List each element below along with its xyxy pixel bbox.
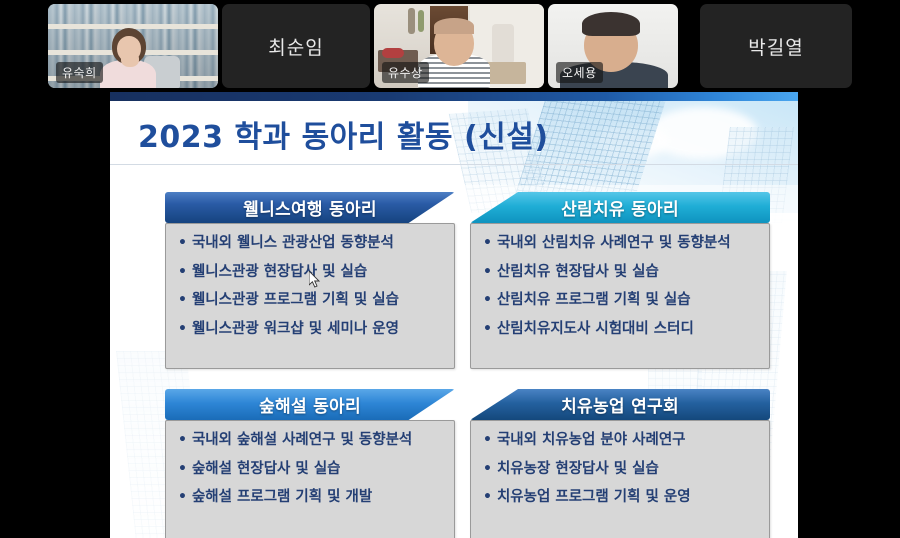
participant-name-label: 오세용	[556, 62, 603, 83]
bullet-text: 국내외 산림치유 사례연구 및 동향분석	[497, 236, 731, 251]
bullet-item: • 치유농업 프로그램 기획 및 운영	[483, 490, 761, 505]
bullet-dot: •	[483, 433, 492, 447]
club-card-header: 산림치유 동아리	[470, 192, 770, 223]
bullet-item: • 숲해설 프로그램 기획 및 개발	[178, 490, 446, 505]
bullet-dot: •	[483, 236, 492, 250]
club-card-care-farming[interactable]: 치유농업 연구회 • 국내외 치유농업 분야 사례연구 • 치유농장 현장답사 …	[470, 389, 770, 538]
club-card-header: 웰니스여행 동아리	[165, 192, 455, 223]
club-card-body: • 국내외 웰니스 관광산업 동향분석 • 웰니스관광 현장답사 및 실습 • …	[165, 223, 455, 369]
bullet-item: • 산림치유 프로그램 기획 및 실습	[483, 293, 761, 308]
participant-name-label: 박길열	[700, 4, 852, 88]
screen-share-area: 2023 학과 동아리 활동 (신설) 웰니스여행 동아리 • 국내외 웰니스 …	[0, 92, 900, 538]
participant-tile-5[interactable]: 박길열	[700, 4, 852, 88]
club-card-header: 치유농업 연구회	[470, 389, 770, 420]
zoom-meeting-window: 유숙희 최순임 유수상	[0, 0, 900, 538]
slide-title: 2023 학과 동아리 활동 (신설)	[138, 112, 549, 156]
bullet-dot: •	[178, 265, 187, 279]
participant-tile-1[interactable]: 유숙희	[48, 4, 218, 88]
bullet-text: 국내외 치유농업 분야 사례연구	[497, 433, 686, 448]
club-card-title: 웰니스여행 동아리	[243, 195, 377, 220]
bullet-text: 웰니스관광 현장답사 및 실습	[192, 265, 367, 280]
bullet-text: 국내외 숲해설 사례연구 및 동향분석	[192, 433, 412, 448]
bullet-dot: •	[178, 236, 187, 250]
bullet-text: 산림치유 현장답사 및 실습	[497, 265, 659, 280]
bullet-text: 국내외 웰니스 관광산업 동향분석	[192, 236, 394, 251]
bullet-text: 숲해설 프로그램 기획 및 개발	[192, 490, 372, 505]
club-card-title: 치유농업 연구회	[561, 392, 679, 417]
club-card-title: 산림치유 동아리	[561, 195, 679, 220]
bullet-item: • 산림치유 현장답사 및 실습	[483, 265, 761, 280]
participant-filmstrip: 유숙희 최순임 유수상	[0, 0, 900, 92]
bullet-item: • 웰니스관광 현장답사 및 실습	[178, 265, 446, 280]
club-card-wellness-travel[interactable]: 웰니스여행 동아리 • 국내외 웰니스 관광산업 동향분석 • 웰니스관광 현장…	[165, 192, 455, 369]
bullet-dot: •	[483, 462, 492, 476]
participant-tile-3[interactable]: 유수상	[374, 4, 544, 88]
bullet-text: 치유농장 현장답사 및 실습	[497, 462, 659, 477]
bullet-item: • 숲해설 현장답사 및 실습	[178, 462, 446, 477]
participant-name-label: 유수상	[382, 62, 429, 83]
presentation-slide[interactable]: 2023 학과 동아리 활동 (신설) 웰니스여행 동아리 • 국내외 웰니스 …	[110, 92, 798, 538]
participant-name-label: 최순임	[222, 4, 370, 88]
bullet-item: • 국내외 숲해설 사례연구 및 동향분석	[178, 433, 446, 448]
club-card-forest-interpretation[interactable]: 숲해설 동아리 • 국내외 숲해설 사례연구 및 동향분석 • 숲해설 현장답사…	[165, 389, 455, 538]
bullet-dot: •	[178, 293, 187, 307]
slide-top-bar	[110, 92, 798, 101]
title-divider	[110, 164, 798, 165]
club-card-body: • 국내외 치유농업 분야 사례연구 • 치유농장 현장답사 및 실습 • 치유…	[470, 420, 770, 538]
participant-name-label: 유숙희	[56, 62, 103, 83]
bullet-text: 숲해설 현장답사 및 실습	[192, 462, 341, 477]
bullet-dot: •	[178, 322, 187, 336]
bullet-dot: •	[483, 293, 492, 307]
bullet-item: • 치유농장 현장답사 및 실습	[483, 462, 761, 477]
bullet-item: • 웰니스관광 워크샵 및 세미나 운영	[178, 322, 446, 337]
bullet-item: • 웰니스관광 프로그램 기획 및 실습	[178, 293, 446, 308]
club-card-body: • 국내외 산림치유 사례연구 및 동향분석 • 산림치유 현장답사 및 실습 …	[470, 223, 770, 369]
bullet-text: 산림치유지도사 시험대비 스터디	[497, 322, 694, 337]
club-card-body: • 국내외 숲해설 사례연구 및 동향분석 • 숲해설 현장답사 및 실습 • …	[165, 420, 455, 538]
bullet-dot: •	[178, 462, 187, 476]
bullet-dot: •	[483, 265, 492, 279]
bullet-text: 웰니스관광 프로그램 기획 및 실습	[192, 293, 399, 308]
bullet-dot: •	[178, 490, 187, 504]
bullet-dot: •	[483, 490, 492, 504]
club-card-title: 숲해설 동아리	[259, 392, 361, 417]
bullet-dot: •	[178, 433, 187, 447]
bullet-item: • 국내외 산림치유 사례연구 및 동향분석	[483, 236, 761, 251]
club-card-header: 숲해설 동아리	[165, 389, 455, 420]
participant-tile-4[interactable]: 오세용	[548, 4, 678, 88]
bullet-text: 산림치유 프로그램 기획 및 실습	[497, 293, 691, 308]
bullet-item: • 국내외 웰니스 관광산업 동향분석	[178, 236, 446, 251]
participant-tile-2[interactable]: 최순임	[222, 4, 370, 88]
bullet-text: 치유농업 프로그램 기획 및 운영	[497, 490, 691, 505]
club-card-forest-healing[interactable]: 산림치유 동아리 • 국내외 산림치유 사례연구 및 동향분석 • 산림치유 현…	[470, 192, 770, 369]
bullet-item: • 산림치유지도사 시험대비 스터디	[483, 322, 761, 337]
bullet-text: 웰니스관광 워크샵 및 세미나 운영	[192, 322, 399, 337]
bullet-dot: •	[483, 322, 492, 336]
bullet-item: • 국내외 치유농업 분야 사례연구	[483, 433, 761, 448]
